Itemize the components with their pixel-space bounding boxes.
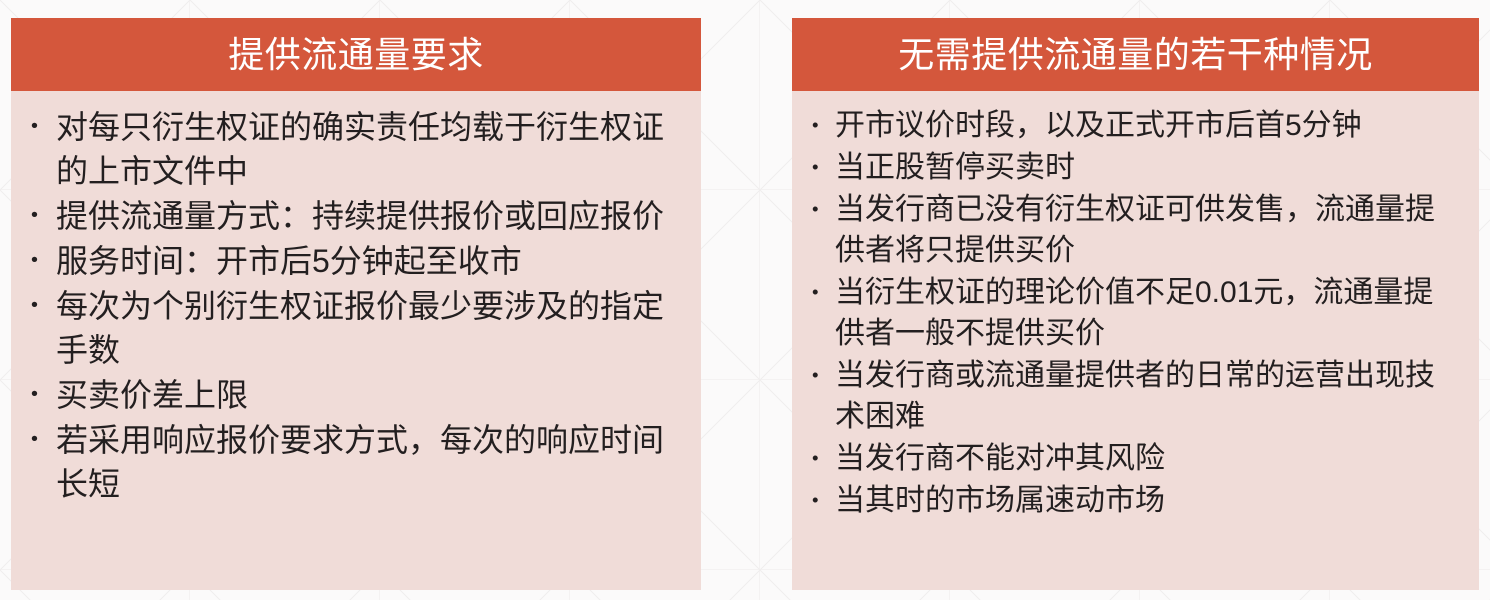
list-item: 当发行商或流通量提供者的日常的运营出现技术困难 xyxy=(808,355,1463,437)
exemptions-bullet-list: 开市议价时段，以及正式开市后首5分钟 当正股暂停买卖时 当发行商已没有衍生权证可… xyxy=(808,105,1463,521)
list-item: 每次为个别衍生权证报价最少要涉及的指定手数 xyxy=(27,284,685,372)
list-item: 服务时间：开市后5分钟起至收市 xyxy=(27,239,685,283)
list-item-text: 开市议价时段，以及正式开市后首5分钟 xyxy=(835,109,1362,142)
list-item: 若采用响应报价要求方式，每次的响应时间长短 xyxy=(27,418,685,506)
list-item-text: 当衍生权证的理论价值不足0.01元，流通量提供者一般不提供买价 xyxy=(835,276,1433,350)
list-item: 当其时的市场属速动市场 xyxy=(808,480,1463,521)
panel-requirements-title: 提供流通量要求 xyxy=(11,18,701,91)
list-item: 当正股暂停买卖时 xyxy=(808,147,1463,188)
list-item: 当发行商已没有衍生权证可供发售，流通量提供者将只提供买价 xyxy=(808,189,1463,271)
list-item-text: 当发行商不能对冲其风险 xyxy=(835,442,1165,475)
list-item: 提供流通量方式：持续提供报价或回应报价 xyxy=(27,194,685,238)
list-item-text: 若采用响应报价要求方式，每次的响应时间长短 xyxy=(56,422,664,502)
panel-requirements-body: 对每只衍生权证的确实责任均载于衍生权证的上市文件中 提供流通量方式：持续提供报价… xyxy=(11,91,701,590)
panel-liquidity-provision-exemptions: 无需提供流通量的若干种情况 开市议价时段，以及正式开市后首5分钟 当正股暂停买卖… xyxy=(792,18,1479,590)
list-item-text: 服务时间：开市后5分钟起至收市 xyxy=(56,243,522,279)
requirements-bullet-list: 对每只衍生权证的确实责任均载于衍生权证的上市文件中 提供流通量方式：持续提供报价… xyxy=(27,105,685,506)
panel-exemptions-body: 开市议价时段，以及正式开市后首5分钟 当正股暂停买卖时 当发行商已没有衍生权证可… xyxy=(792,91,1479,590)
list-item: 当衍生权证的理论价值不足0.01元，流通量提供者一般不提供买价 xyxy=(808,272,1463,354)
list-item-text: 当其时的市场属速动市场 xyxy=(835,484,1165,517)
list-item: 开市议价时段，以及正式开市后首5分钟 xyxy=(808,105,1463,146)
list-item: 当发行商不能对冲其风险 xyxy=(808,438,1463,479)
list-item: 买卖价差上限 xyxy=(27,373,685,417)
list-item-text: 当发行商或流通量提供者的日常的运营出现技术困难 xyxy=(835,359,1435,433)
panel-exemptions-title: 无需提供流通量的若干种情况 xyxy=(792,18,1479,91)
list-item-text: 当正股暂停买卖时 xyxy=(835,151,1075,184)
list-item-text: 提供流通量方式：持续提供报价或回应报价 xyxy=(56,198,664,234)
list-item: 对每只衍生权证的确实责任均载于衍生权证的上市文件中 xyxy=(27,105,685,193)
list-item-text: 对每只衍生权证的确实责任均载于衍生权证的上市文件中 xyxy=(56,109,664,189)
list-item-text: 每次为个别衍生权证报价最少要涉及的指定手数 xyxy=(56,288,664,368)
comparison-panels-container: 提供流通量要求 对每只衍生权证的确实责任均载于衍生权证的上市文件中 提供流通量方… xyxy=(0,0,1490,600)
list-item-text: 买卖价差上限 xyxy=(56,377,248,413)
panel-liquidity-provision-requirements: 提供流通量要求 对每只衍生权证的确实责任均载于衍生权证的上市文件中 提供流通量方… xyxy=(11,18,701,590)
list-item-text: 当发行商已没有衍生权证可供发售，流通量提供者将只提供买价 xyxy=(835,193,1435,267)
